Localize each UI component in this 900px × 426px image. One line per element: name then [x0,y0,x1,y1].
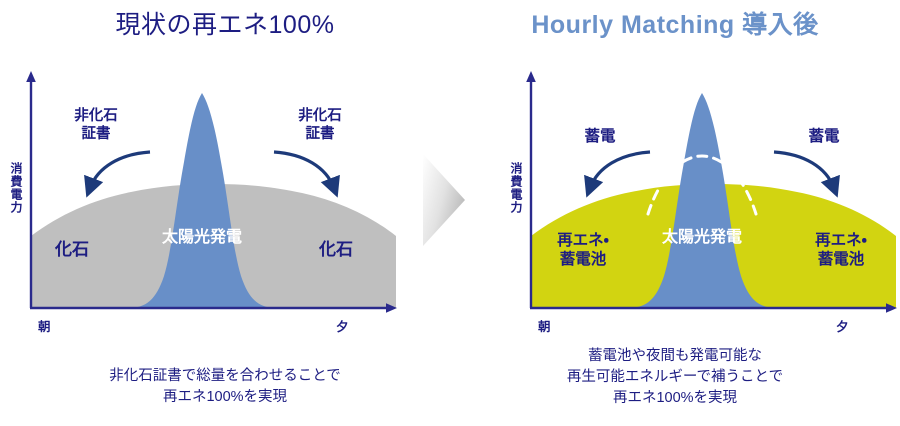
left-annotation-arrow-right [274,152,334,188]
left-area-label-solar: 太陽光発電 [142,228,262,248]
right-area-label-renewable-left: 再エネ・ 蓄電池 [532,232,634,270]
panel-hourly-matching: Hourly Matching 導入後 [450,0,900,426]
left-x-tick-end: 夕 [336,316,349,335]
left-x-tick-start: 朝 [38,316,51,335]
panel-current: 現状の再エネ100% 消費電力 朝 [0,0,450,426]
left-area-label-fossil-left: 化石 [28,240,116,261]
right-y-axis-arrowhead [526,71,536,82]
left-y-axis-label: 消費電力 [8,162,25,214]
left-annotation-label-1: 非化石 証書 [48,108,144,143]
left-area-label-fossil-right: 化石 [292,240,380,261]
right-annotation-label-2: 蓄電 [784,128,864,147]
right-annotation-label-1: 蓄電 [560,128,640,147]
left-annotation-label-2: 非化石 証書 [272,108,368,143]
right-area-label-renewable-right: 再エネ・ 蓄電池 [790,232,892,270]
left-annotation-arrow-left [90,152,150,188]
diagram-root: 現状の再エネ100% 消費電力 朝 [0,0,900,426]
right-y-axis-label: 消費電力 [508,162,525,214]
right-x-tick-end: 夕 [836,316,849,335]
left-y-axis-arrowhead [26,71,36,82]
right-area-label-solar: 太陽光発電 [642,228,762,248]
right-x-tick-start: 朝 [538,316,551,335]
right-annotation-arrow-left [590,152,650,188]
left-caption: 非化石証書で総量を合わせることで 再エネ100%を実現 [0,366,450,408]
left-chart-graphic [0,0,450,426]
right-caption: 蓄電池や夜間も発電可能な 再生可能エネルギーで補うことで 再エネ100%を実現 [450,346,900,409]
right-annotation-arrow-right [774,152,834,188]
